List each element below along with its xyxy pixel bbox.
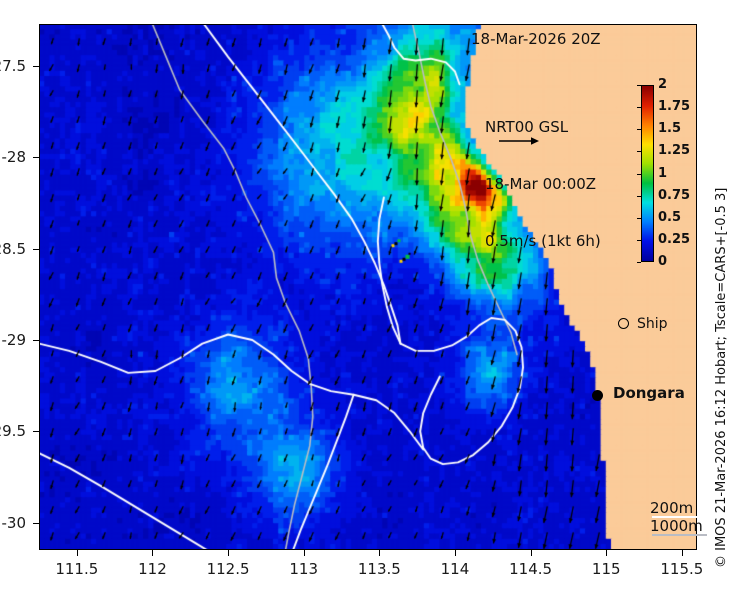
y-tick [33, 157, 39, 158]
colorbar-tick [637, 129, 641, 130]
product-annotation: NRT00 GSL 18-Mar 00:00Z 0.5m/s (1kt 6h) [485, 80, 601, 289]
ship-label: Ship [637, 316, 668, 332]
x-tick [531, 550, 532, 556]
colorbar-tick-label: 1.25 [658, 143, 690, 158]
x-tick [77, 550, 78, 556]
colorbar-tick-label: 0.5 [658, 210, 681, 225]
x-tick-label: 111.5 [37, 560, 117, 578]
colorbar-tick-label: 1.75 [658, 99, 690, 114]
x-tick-label: 112.5 [188, 560, 268, 578]
colorbar-tick [637, 85, 641, 86]
isobath-1000m-swatch [652, 534, 707, 536]
x-tick [152, 550, 153, 556]
x-tick [682, 550, 683, 556]
colorbar-tick [637, 107, 641, 108]
x-tick [455, 550, 456, 556]
x-tick [379, 550, 380, 556]
colorbar-tick [637, 218, 641, 219]
x-tick [304, 550, 305, 556]
y-tick-label: -28 [0, 148, 26, 166]
y-tick-label: -29 [0, 331, 26, 349]
town-label: Dongara [613, 384, 685, 402]
colorbar-gradient [641, 85, 654, 262]
x-tick-label: 113 [264, 560, 344, 578]
colorbar-tick [637, 151, 641, 152]
credit-text: © IMOS 21-Mar-2026 16:12 Hobart; Tscale=… [714, 188, 729, 568]
town-marker-icon [592, 390, 603, 401]
reference-arrow-icon [497, 134, 541, 148]
x-tick-label: 115 [566, 560, 646, 578]
date-stamp: 18-Mar-2026 20Z [471, 30, 601, 48]
colorbar-tick [637, 174, 641, 175]
y-tick-label: -29.5 [0, 422, 26, 440]
colorbar-tick [637, 240, 641, 241]
x-tick-label: 112 [112, 560, 192, 578]
y-tick [33, 523, 39, 524]
vector-scale-label: 0.5m/s (1kt 6h) [485, 232, 601, 251]
colorbar-tick-label: 2 [658, 77, 667, 92]
product-time: 18-Mar 00:00Z [485, 175, 601, 194]
y-tick [33, 249, 39, 250]
y-tick [33, 66, 39, 67]
y-tick [33, 431, 39, 432]
ship-marker-icon [618, 318, 629, 329]
x-tick-label: 114.5 [491, 560, 571, 578]
x-tick [606, 550, 607, 556]
isobath-200m-label: 200m [650, 499, 693, 517]
colorbar-tick-label: 1.5 [658, 121, 681, 136]
y-tick-label: -30 [0, 514, 26, 532]
y-tick-label: -27.5 [0, 57, 26, 75]
isobath-1000m-label: 1000m [650, 517, 703, 535]
colorbar-tick-label: 1 [658, 166, 667, 181]
x-tick-label: 114 [415, 560, 495, 578]
colorbar-tick-label: 0.75 [658, 188, 690, 203]
y-tick-label: -28.5 [0, 240, 26, 258]
figure-canvas: 111.5112112.5113113.5114114.5115115.5 -2… [0, 0, 740, 592]
colorbar-tick [637, 196, 641, 197]
x-tick-label: 113.5 [339, 560, 419, 578]
x-tick-label: 115.5 [642, 560, 722, 578]
y-tick [33, 340, 39, 341]
colorbar-tick-label: 0.25 [658, 232, 690, 247]
x-tick [228, 550, 229, 556]
colorbar-tick-label: 0 [658, 254, 667, 269]
colorbar-tick [637, 262, 641, 263]
